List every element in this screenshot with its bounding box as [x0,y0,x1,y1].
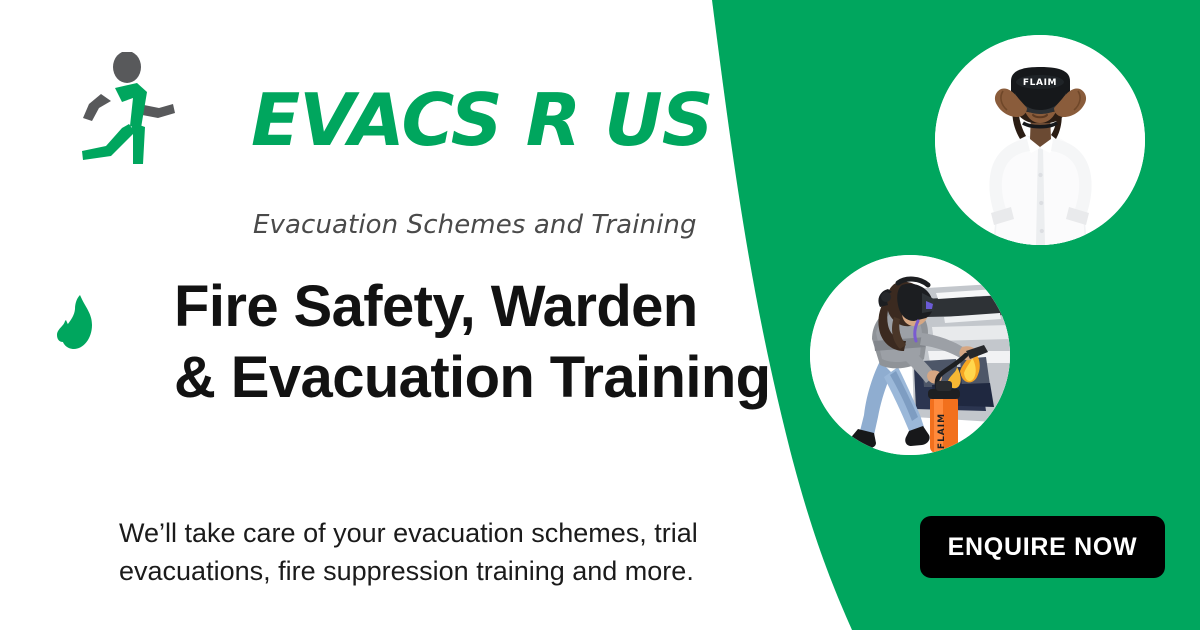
headline-line-2: & Evacuation Training [174,343,771,414]
page-title: Fire Safety, Warden & Evacuation Trainin… [174,272,771,414]
brand-logo[interactable]: EVACS R US Evacuation Schemes and Traini… [75,52,595,192]
svg-text:FLAIM: FLAIM [1023,78,1057,88]
logo-wordmark: EVACS R US [251,84,713,156]
photo-extinguisher: FLAIM [810,255,1010,455]
running-person-icon [75,52,185,167]
enquire-now-button[interactable]: ENQUIRE NOW [920,516,1165,578]
subcopy-text: We’ll take care of your evacuation schem… [119,514,759,591]
subcopy-line-1: We’ll take care of your evacuation schem… [119,514,759,552]
logo-tagline: Evacuation Schemes and Training [253,210,697,240]
marketing-banner: EVACS R US Evacuation Schemes and Traini… [0,0,1200,630]
flame-icon [56,294,96,350]
photo-vr-headset: FLAIM [935,35,1145,245]
headline-line-1: Fire Safety, Warden [174,272,771,343]
subcopy-line-2: evacuations, fire suppression training a… [119,552,759,590]
svg-text:FLAIM: FLAIM [937,413,947,449]
